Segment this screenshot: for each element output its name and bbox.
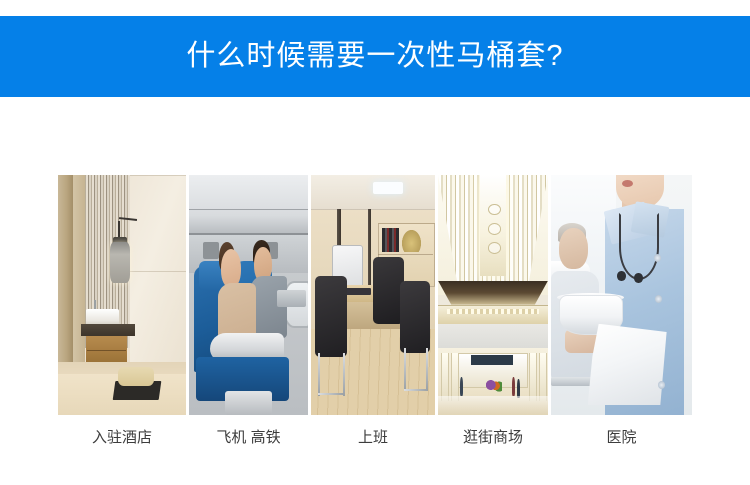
mall-pillar-4: [539, 353, 547, 401]
mall-flower-display: [486, 377, 501, 394]
scenario-caption-row: 入驻酒店 飞机 高铁 上班 逛街商场 医院: [58, 423, 692, 453]
mall-shopper-2: [512, 377, 515, 396]
mall-floor-reflection: [438, 396, 548, 415]
mall-pillar-1: [441, 353, 449, 401]
airplane-cabin-illustration: [189, 175, 308, 415]
scenario-image-hotel[interactable]: [58, 175, 186, 415]
airplane-tray-table: [277, 290, 306, 307]
hotel-wall-lantern: [110, 242, 129, 283]
caption-office: 上班: [311, 423, 435, 453]
scenario-image-hospital[interactable]: [551, 175, 692, 415]
office-chair-base-1: [318, 393, 344, 395]
hospital-illustration: [551, 175, 692, 415]
office-file-binders: [382, 228, 399, 252]
white-cloth-linen: [588, 324, 667, 406]
male-passenger-torso: [251, 276, 287, 338]
office-illustration: [311, 175, 435, 415]
page-title: 什么时候需要一次性马桶套?: [186, 42, 563, 71]
office-chair-base-2: [404, 389, 428, 391]
mall-ceiling-ring-2: [488, 223, 501, 235]
usage-scenario-gallery: [58, 175, 692, 415]
stethoscope-end-left: [617, 271, 625, 281]
hotel-wall-seam-top: [130, 175, 186, 176]
airplane-seat-frame: [225, 391, 273, 415]
page-header-banner: 什么时候需要一次性马桶套?: [0, 16, 750, 97]
nurse-lips: [622, 180, 633, 187]
hotel-counter-top: [81, 324, 135, 336]
patient-head: [559, 228, 587, 269]
nurse-uniform-button-1: [654, 254, 661, 262]
mall-ceiling-ring-1: [488, 204, 501, 216]
caption-hotel: 入驻酒店: [58, 423, 186, 453]
stethoscope-end-right: [634, 273, 642, 283]
hotel-cabinet-shelf-line-1: [87, 350, 125, 351]
caption-hospital: 医院: [551, 423, 692, 453]
stethoscope-tubing: [619, 213, 660, 279]
office-chair-leg-3: [404, 348, 406, 391]
mall-ceiling-ring-3: [488, 242, 501, 254]
mall-upper-balcony: [438, 281, 548, 305]
hotel-room-illustration: [58, 175, 186, 415]
mall-balcony-light-strip: [447, 309, 539, 314]
office-shelf-divider: [378, 254, 433, 255]
scenario-image-airplane[interactable]: [189, 175, 308, 415]
mall-atrium-void: [438, 324, 548, 348]
office-decor-plant: [402, 230, 422, 252]
office-chair-leg-4: [426, 348, 428, 391]
airplane-bin-seam: [189, 209, 308, 210]
hotel-wall-seam-mid: [130, 271, 186, 272]
caption-airplane: 飞机 高铁: [189, 423, 308, 453]
mall-pillar-2: [451, 353, 459, 401]
scenario-image-office[interactable]: [311, 175, 435, 415]
scenario-image-mall[interactable]: [438, 175, 548, 415]
office-chair-left: [315, 276, 347, 358]
mall-mid-balcony: [438, 305, 548, 325]
office-chair-leg-1: [318, 353, 320, 396]
office-chair-right: [400, 281, 430, 353]
caption-mall: 逛街商场: [438, 423, 548, 453]
airplane-air-vent-left: [203, 242, 218, 259]
shopping-mall-illustration: [438, 175, 548, 415]
office-chair-leg-2: [343, 353, 345, 396]
airplane-overhead-bin: [189, 175, 308, 235]
mall-pillar-3: [529, 353, 537, 401]
office-ceiling-light: [373, 182, 403, 194]
hotel-folded-towel: [118, 367, 154, 386]
mall-store-signage: [471, 355, 513, 365]
